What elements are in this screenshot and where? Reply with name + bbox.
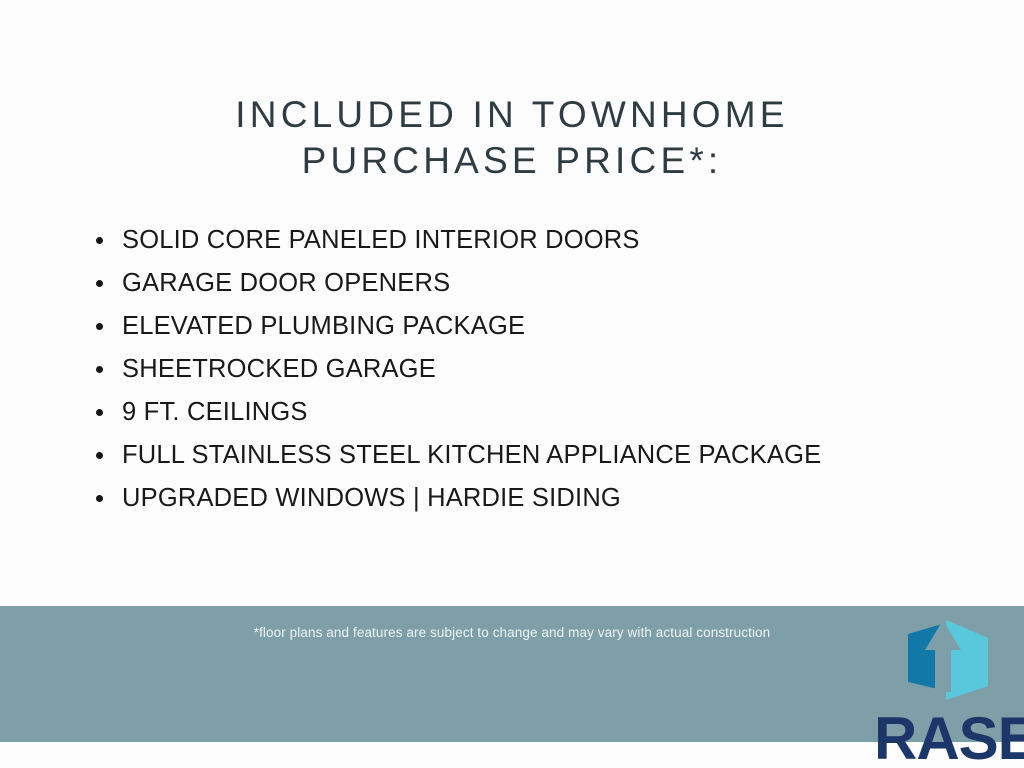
list-item: FULL STAINLESS STEEL KITCHEN APPLIANCE P…	[96, 434, 996, 477]
bullet-dot-icon	[96, 280, 103, 287]
list-item-label: SOLID CORE PANELED INTERIOR DOORS	[122, 226, 640, 254]
bullet-dot-icon	[96, 323, 103, 330]
features-list: SOLID CORE PANELED INTERIOR DOORS GARAGE…	[96, 219, 996, 520]
list-item: UPGRADED WINDOWS | HARDIE SIDING	[96, 477, 996, 520]
page-title-line-1: INCLUDED IN TOWNHOME	[0, 92, 1024, 138]
list-item: SOLID CORE PANELED INTERIOR DOORS	[96, 219, 996, 262]
rase-panels-arrow-mark	[902, 620, 994, 710]
page-title: INCLUDED IN TOWNHOME PURCHASE PRICE*:	[0, 92, 1024, 184]
brand-logo: RASE	[874, 612, 1024, 768]
bullet-dot-icon	[96, 237, 103, 244]
list-item-label: UPGRADED WINDOWS | HARDIE SIDING	[122, 484, 621, 512]
logo-wordmark: RASE	[874, 708, 1024, 768]
list-item-label: FULL STAINLESS STEEL KITCHEN APPLIANCE P…	[122, 441, 821, 469]
bullet-dot-icon	[96, 495, 103, 502]
bullet-dot-icon	[96, 366, 103, 373]
list-item-label: ELEVATED PLUMBING PACKAGE	[122, 312, 525, 340]
list-item: ELEVATED PLUMBING PACKAGE	[96, 305, 996, 348]
list-item-label: SHEETROCKED GARAGE	[122, 355, 436, 383]
page-title-line-2: PURCHASE PRICE*:	[0, 138, 1024, 184]
slide-canvas: INCLUDED IN TOWNHOME PURCHASE PRICE*: SO…	[0, 0, 1024, 768]
bullet-dot-icon	[96, 409, 103, 416]
list-item: SHEETROCKED GARAGE	[96, 348, 996, 391]
bullet-dot-icon	[96, 452, 103, 459]
footer-disclaimer: *floor plans and features are subject to…	[0, 625, 1024, 640]
list-item: 9 FT. CEILINGS	[96, 391, 996, 434]
footer-band: *floor plans and features are subject to…	[0, 606, 1024, 742]
list-item-label: GARAGE DOOR OPENERS	[122, 269, 450, 297]
list-item: GARAGE DOOR OPENERS	[96, 262, 996, 305]
list-item-label: 9 FT. CEILINGS	[122, 398, 308, 426]
